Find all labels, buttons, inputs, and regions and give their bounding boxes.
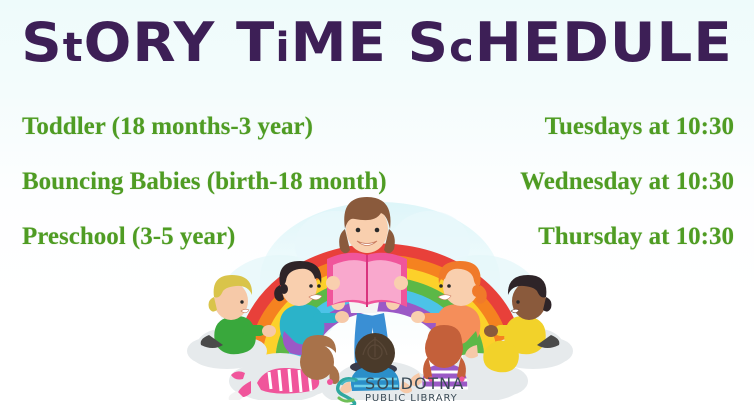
soldotna-s-mark-icon <box>335 375 361 405</box>
logo-subtitle: PUBLIC LIBRARY <box>365 394 465 404</box>
story-time-poster: StORY TiME ScHEDULE Toddler (18 months-3… <box>0 0 754 418</box>
page-title: StORY TiME ScHEDULE <box>0 8 754 83</box>
schedule-row: Bouncing Babies (birth-18 month) Wednesd… <box>0 154 754 209</box>
logo-name: SOLDOTNA <box>365 376 465 392</box>
schedule-row: Preschool (3-5 year) Thursday at 10:30 <box>0 209 754 264</box>
schedule-row: Toddler (18 months-3 year) Tuesdays at 1… <box>0 99 754 154</box>
program-time: Wednesday at 10:30 <box>520 168 734 196</box>
program-time: Tuesdays at 10:30 <box>545 113 734 141</box>
program-name: Bouncing Babies (birth-18 month) <box>22 168 387 196</box>
program-name: Toddler (18 months-3 year) <box>22 113 313 141</box>
schedule-list: Toddler (18 months-3 year) Tuesdays at 1… <box>0 99 754 264</box>
program-time: Thursday at 10:30 <box>538 223 734 251</box>
library-logo: SOLDOTNA PUBLIC LIBRARY <box>335 370 525 410</box>
program-name: Preschool (3-5 year) <box>22 223 235 251</box>
